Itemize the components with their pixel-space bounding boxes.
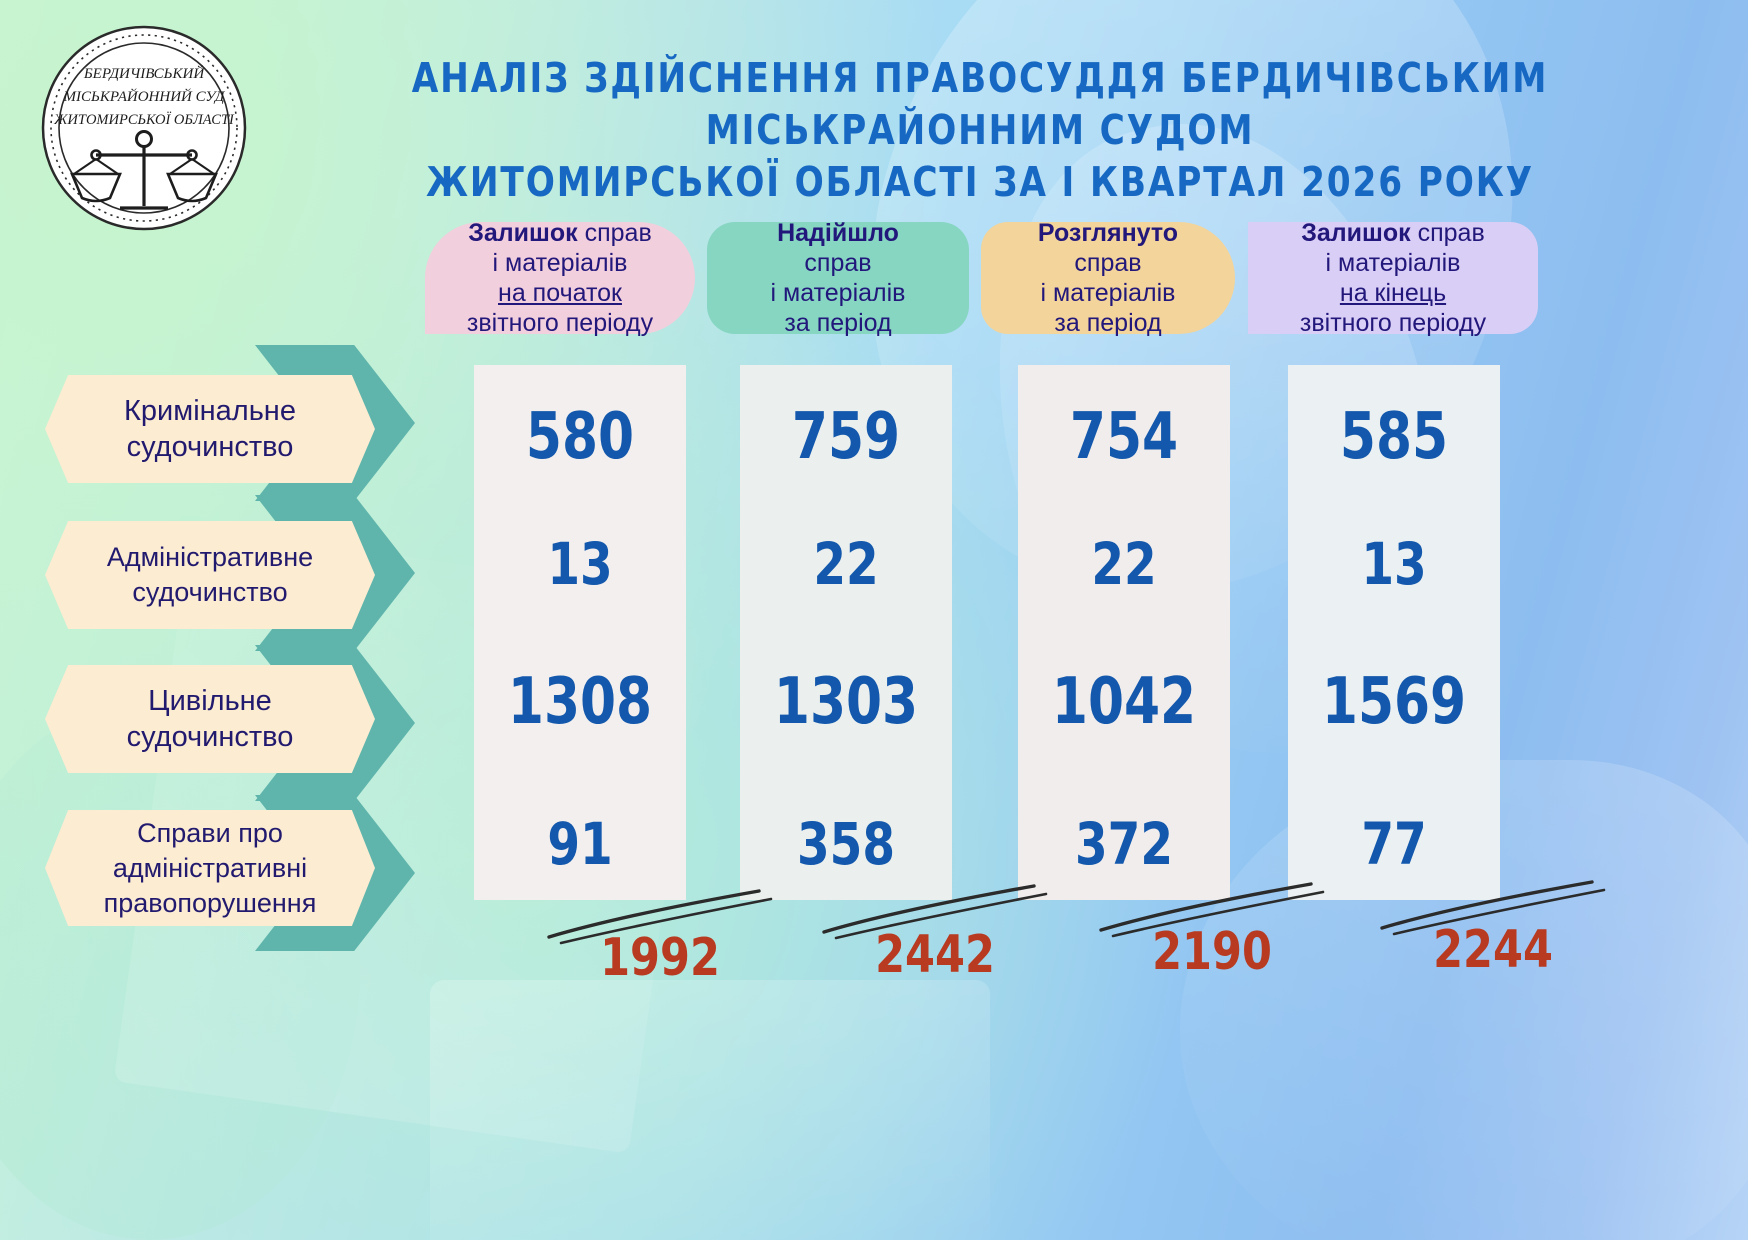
svg-text:ЖИТОМИРСЬКОЇ ОБЛАСТІ: ЖИТОМИРСЬКОЇ ОБЛАСТІ	[53, 111, 235, 128]
header-rest-word: справ	[578, 219, 652, 247]
header-line-2: справ	[771, 248, 906, 278]
header-line-4: звітного періоду	[467, 308, 653, 338]
cell-value: 754	[1029, 400, 1220, 474]
cell-value: 91	[485, 810, 676, 878]
cell-value: 1308	[485, 665, 676, 739]
header-line-3: і матеріалів	[771, 278, 906, 308]
header-rest-word: справ	[1411, 219, 1485, 247]
cell-value: 22	[1029, 530, 1220, 598]
header-bold-word: Надійшло	[777, 219, 899, 247]
header-line-4: за період	[1038, 308, 1178, 338]
cell-value: 372	[1029, 810, 1220, 878]
cell-value: 1569	[1299, 665, 1490, 739]
cell-value: 22	[751, 530, 942, 598]
data-column-remainder-end: 585 13 1569 77	[1288, 365, 1500, 900]
header-line-3: і матеріалів	[1038, 278, 1178, 308]
column-total: 1992	[554, 928, 766, 988]
cell-value: 1042	[1029, 665, 1220, 739]
row-label-administrative-offences: Справи про адміністративні правопорушенн…	[45, 810, 375, 926]
header-line-3-underlined: на початок	[498, 279, 622, 307]
cell-value: 759	[751, 400, 942, 474]
row-label-line-2: судочинство	[127, 719, 294, 755]
background-blob	[430, 980, 990, 1240]
cell-value: 580	[485, 400, 676, 474]
header-line-4: звітного періоду	[1300, 308, 1486, 338]
column-total: 2190	[1106, 922, 1318, 982]
header-bold-word: Залишок	[468, 219, 577, 247]
svg-text:МІСЬКРАЙОННИЙ СУД: МІСЬКРАЙОННИЙ СУД	[63, 88, 226, 105]
scales-of-justice-icon: БЕРДИЧІВСЬКИЙ МІСЬКРАЙОННИЙ СУД ЖИТОМИРС…	[43, 27, 245, 229]
row-label-line-2: судочинство	[107, 575, 313, 610]
row-label-line-1: Справи про	[104, 816, 317, 851]
row-label-civil: Цивільне судочинство	[45, 665, 375, 773]
svg-text:БЕРДИЧІВСЬКИЙ: БЕРДИЧІВСЬКИЙ	[83, 65, 205, 82]
cell-value: 1303	[751, 665, 942, 739]
column-headers: Залишок справ і матеріалів на початок зв…	[0, 222, 1748, 334]
row-label-line-2: судочинство	[124, 429, 296, 465]
cell-value: 77	[1299, 810, 1490, 878]
data-column-received: 759 22 1303 358	[740, 365, 952, 900]
header-line-3-underlined: на кінець	[1340, 279, 1446, 307]
row-label-administrative-justice: Адміністративне судочинство	[45, 521, 375, 629]
column-total: 2244	[1387, 920, 1599, 980]
header-bold-word: Розглянуто	[1038, 219, 1178, 247]
cell-value: 585	[1299, 400, 1490, 474]
court-seal-logo: БЕРДИЧІВСЬКИЙ МІСЬКРАЙОННИЙ СУД ЖИТОМИРС…	[38, 22, 250, 234]
header-bold-word: Залишок	[1301, 219, 1410, 247]
column-header-considered: Розглянуто справ і матеріалів за період	[981, 222, 1235, 334]
row-label-criminal: Кримінальне судочинство	[45, 375, 375, 483]
row-label-line-1: Адміністративне	[107, 540, 313, 575]
data-column-considered: 754 22 1042 372	[1018, 365, 1230, 900]
cell-value: 13	[485, 530, 676, 598]
column-header-received: Надійшло справ і матеріалів за період	[707, 222, 969, 334]
column-total: 2442	[829, 925, 1041, 985]
page-title: АНАЛІЗ ЗДІЙСНЕННЯ ПРАВОСУДДЯ БЕРДИЧІВСЬК…	[320, 52, 1641, 208]
page-title-line-1: АНАЛІЗ ЗДІЙСНЕННЯ ПРАВОСУДДЯ БЕРДИЧІВСЬК…	[320, 52, 1641, 156]
data-column-remainder-start: 580 13 1308 91	[474, 365, 686, 900]
row-label-line-1: Кримінальне	[124, 393, 296, 429]
header-line-4: за період	[771, 308, 906, 338]
row-label-line-3: правопорушення	[104, 886, 317, 921]
page-title-line-2: ЖИТОМИРСЬКОЇ ОБЛАСТІ ЗА І КВАРТАЛ 2026 Р…	[320, 156, 1641, 208]
column-header-remainder-end: Залишок справ і матеріалів на кінець зві…	[1248, 222, 1538, 334]
row-label-line-1: Цивільне	[127, 683, 294, 719]
cell-value: 358	[751, 810, 942, 878]
row-label-line-2: адміністративні	[104, 851, 317, 886]
header-line-2: і матеріалів	[1300, 248, 1486, 278]
cell-value: 13	[1299, 530, 1490, 598]
header-line-2: і матеріалів	[467, 248, 653, 278]
column-header-remainder-start: Залишок справ і матеріалів на початок зв…	[425, 222, 695, 334]
header-line-2: справ	[1038, 248, 1178, 278]
